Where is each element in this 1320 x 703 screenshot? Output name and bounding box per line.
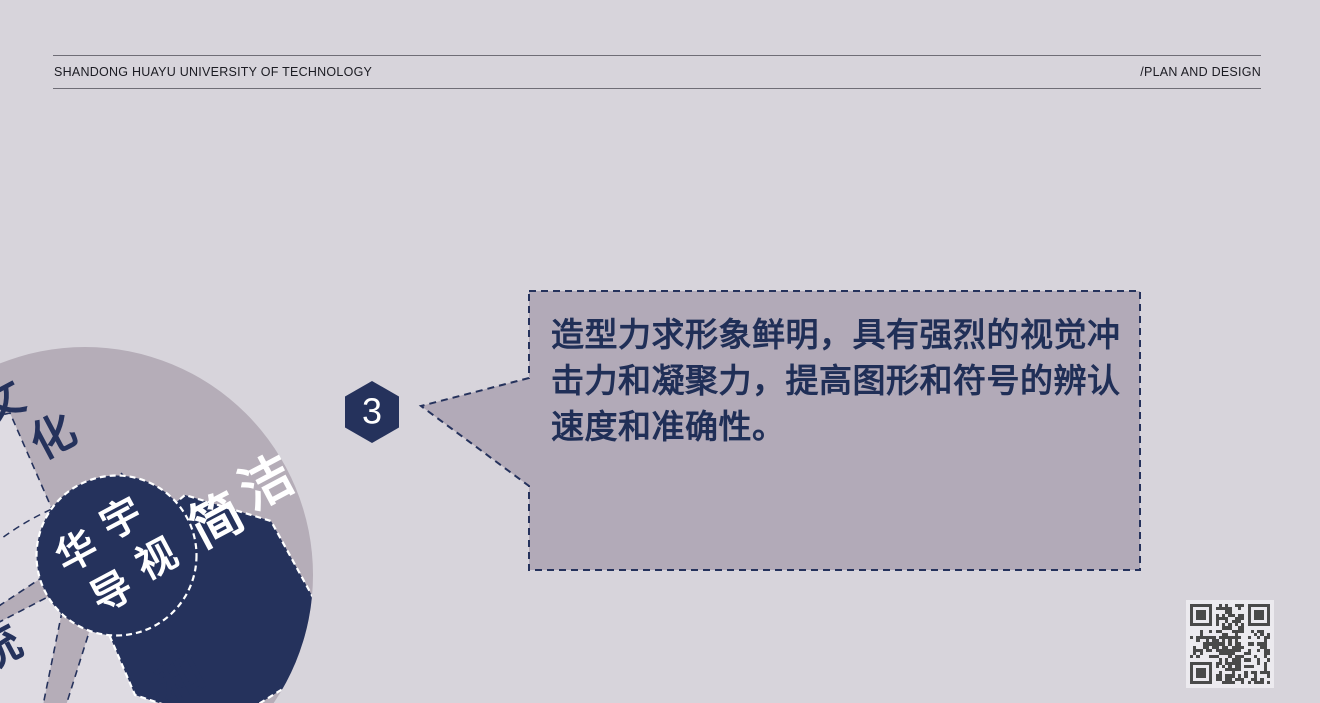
qr-code[interactable] [1186,600,1274,688]
slide-canvas: SHANDONG HUAYU UNIVERSITY OF TECHNOLOGY … [0,0,1320,703]
header-institution-name: SHANDONG HUAYU UNIVERSITY OF TECHNOLOGY [54,65,372,79]
header-rule-top [53,55,1261,56]
step-number-text: 3 [362,391,382,432]
step-number-badge: 3 [343,380,401,444]
page-header: SHANDONG HUAYU UNIVERSITY OF TECHNOLOGY … [53,55,1261,93]
header-rule-bottom [53,88,1261,89]
header-section-label: /PLAN AND DESIGN [1140,65,1261,79]
callout-body-text: 造型力求形象鲜明，具有强烈的视觉冲击力和凝聚力，提高图形和符号的辨认速度和准确性… [551,312,1131,450]
callout-bubble: 造型力求形象鲜明，具有强烈的视觉冲击力和凝聚力，提高图形和符号的辨认速度和准确性… [418,288,1143,574]
qr-code-matrix [1190,604,1270,684]
brand-center-circle: 华 宇 导 视 [33,472,200,639]
